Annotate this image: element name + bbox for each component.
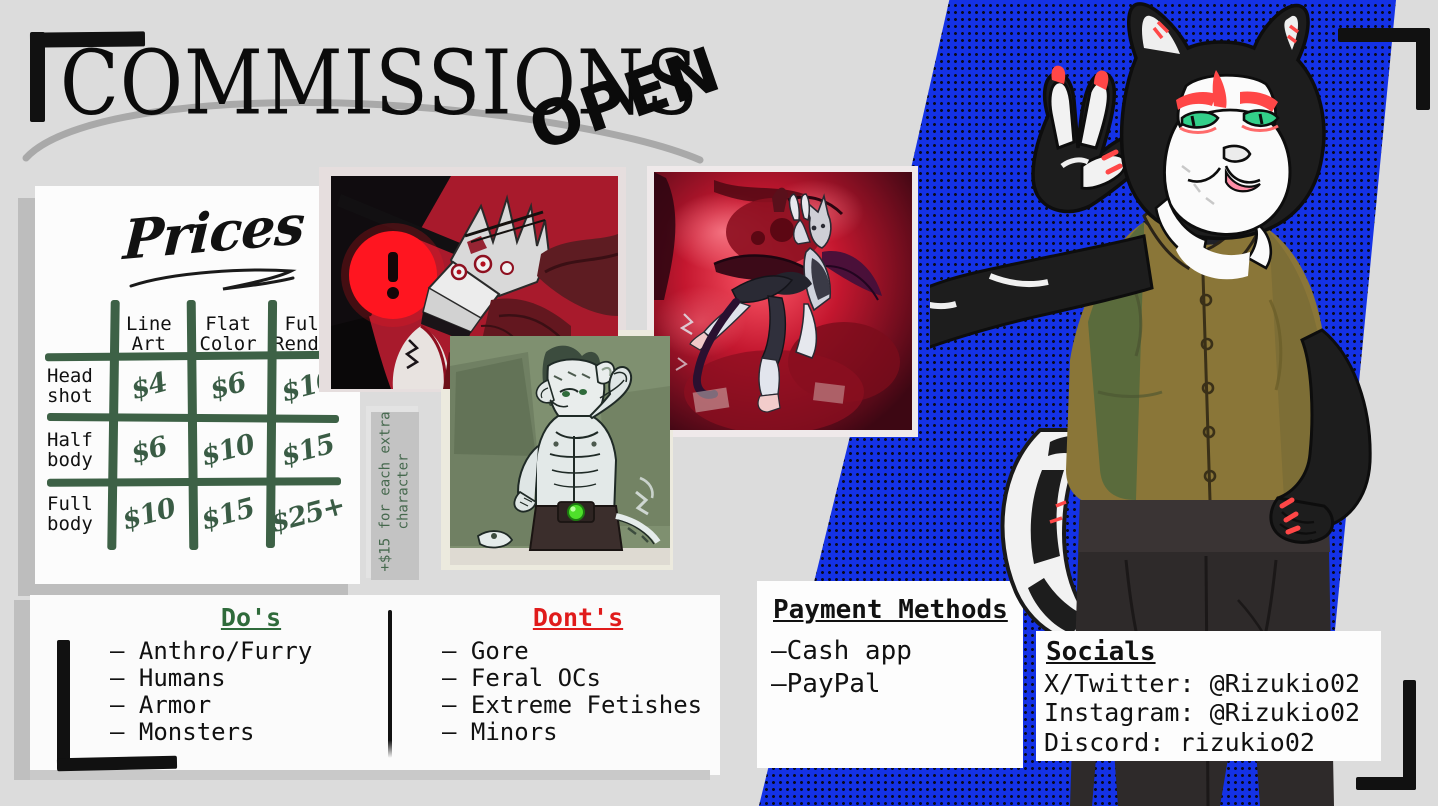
price-halfbody-lineart: $6 — [106, 413, 192, 486]
corner-bracket-bottom-left — [57, 640, 177, 770]
list-item: – Extreme Fetishes — [442, 692, 728, 719]
payment-methods-list: –Cash app –PayPal — [771, 635, 912, 700]
row-header-head-shot: Head shot — [47, 354, 109, 418]
list-item: – Gore — [442, 638, 728, 665]
corner-bracket-bottom-right — [1370, 680, 1430, 790]
extra-character-note-text: +$15 for each extra character — [378, 406, 413, 578]
prices-underline-flourish — [127, 266, 297, 294]
prices-heading: Prices — [122, 192, 306, 272]
artwork-2-illustration — [654, 172, 912, 430]
price-table-corner — [47, 298, 109, 354]
donts-heading: Dont's — [428, 603, 728, 632]
payment-methods-card: Payment Methods –Cash app –PayPal — [757, 581, 1023, 768]
table-row: Head shot $4 $6 $10 — [47, 354, 347, 418]
list-item: –Cash app — [771, 635, 912, 668]
rules-card-bottom-bar — [30, 770, 710, 780]
price-table-header-row: Line Art Flat Color Full Render — [47, 298, 347, 354]
social-handle-twitter: X/Twitter: @Rizukio02 — [1044, 669, 1360, 698]
list-item: – Minors — [442, 719, 728, 746]
price-halfbody-flatcolor: $10 — [185, 413, 271, 486]
artwork-2-red-winged-anthro[interactable] — [654, 172, 912, 430]
row-header-full-body: Full body — [47, 482, 109, 546]
price-headshot-flatcolor: $6 — [185, 349, 271, 422]
list-item: –PayPal — [771, 668, 912, 701]
column-header-line-art: Line Art — [109, 298, 188, 354]
row-header-half-body: Half body — [47, 418, 109, 482]
price-halfbody-fullrender: $15 — [264, 413, 351, 486]
corner-bracket-top-left — [30, 32, 145, 122]
column-header-flat-color: Flat Color — [188, 298, 267, 354]
socials-card: Socials X/Twitter: @Rizukio02 Instagram:… — [1036, 631, 1381, 761]
price-card: Prices Line Art Flat Color Full — [35, 186, 360, 584]
corner-bracket-top-right — [1338, 28, 1430, 110]
page-title: COMMISSIONS OPEN — [60, 40, 699, 117]
rules-column-divider — [388, 610, 392, 758]
donts-column: Dont's – Gore – Feral OCs – Extreme Feti… — [428, 603, 728, 746]
artwork-3-illustration — [450, 336, 670, 565]
commission-sheet: COMMISSIONS OPEN Prices Line Art Flat Co… — [0, 0, 1438, 806]
dos-heading: Do's — [96, 603, 406, 632]
socials-list: X/Twitter: @Rizukio02 Instagram: @Rizuki… — [1044, 669, 1360, 757]
price-fullbody-fullrender: $25+ — [264, 477, 351, 550]
socials-heading: Socials — [1046, 637, 1156, 667]
grid-hline-3 — [47, 477, 341, 487]
list-item: – Feral OCs — [442, 665, 728, 692]
extra-character-note-panel: +$15 for each extra character — [371, 412, 419, 580]
artwork-3-muscular-anthro[interactable] — [450, 336, 670, 565]
social-handle-discord: Discord: rizukio02 — [1044, 728, 1360, 757]
social-handle-instagram: Instagram: @Rizukio02 — [1044, 698, 1360, 727]
price-fullbody-lineart: $10 — [106, 477, 192, 550]
payment-methods-heading: Payment Methods — [773, 595, 1008, 625]
donts-list: – Gore – Feral OCs – Extreme Fetishes – … — [428, 638, 728, 746]
